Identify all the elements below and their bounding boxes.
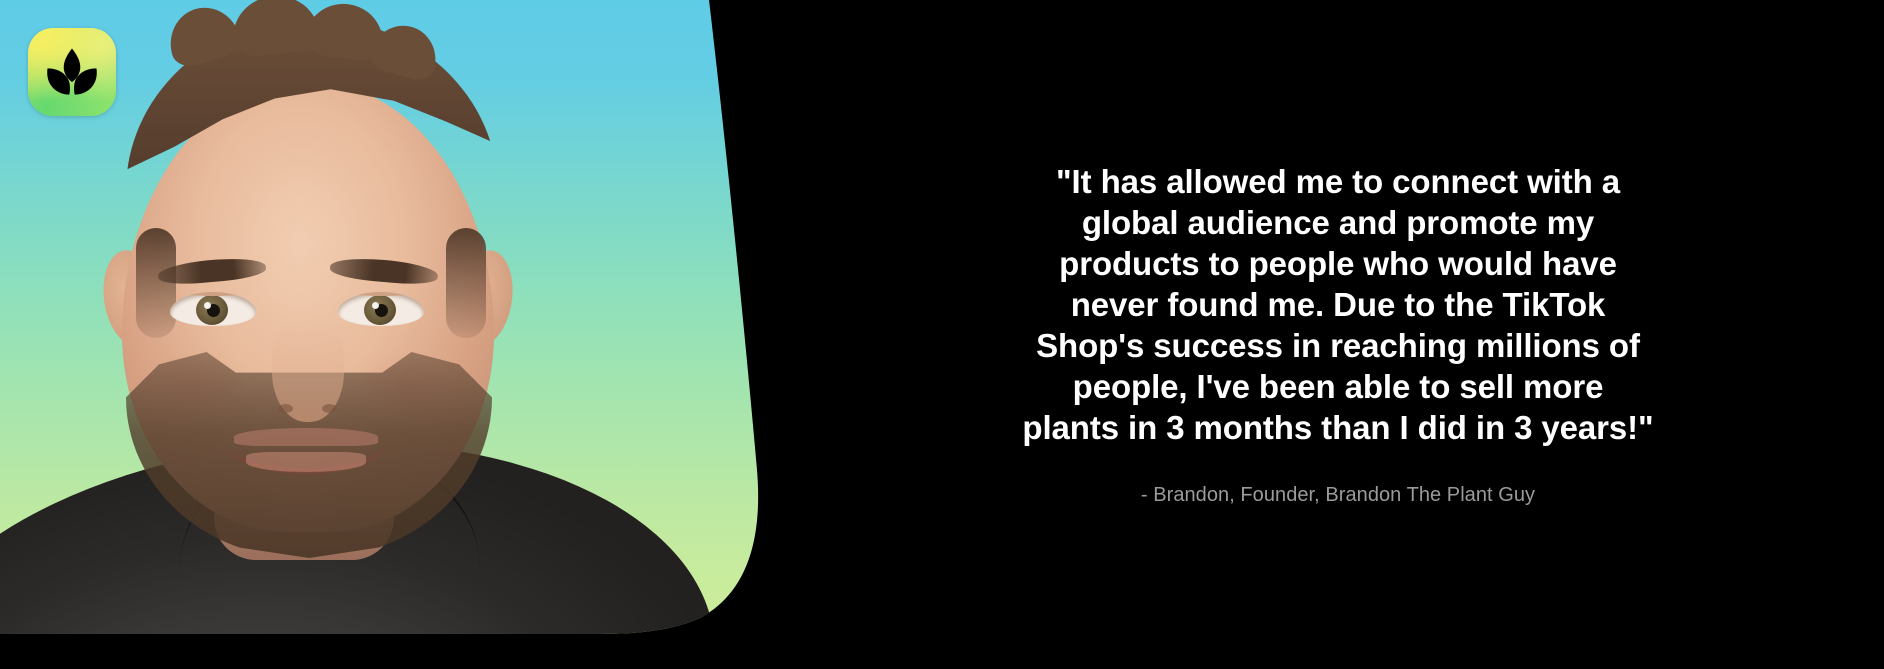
brand-logo-badge[interactable] xyxy=(28,28,116,116)
iris-right xyxy=(364,295,396,325)
nostril-left xyxy=(278,404,293,413)
eye-glint-left xyxy=(204,302,211,309)
iris-left xyxy=(196,295,228,325)
lower-lip xyxy=(246,452,366,472)
testimonial-photo xyxy=(0,0,790,634)
portrait-figure xyxy=(0,0,790,634)
eye-left xyxy=(170,292,256,326)
testimonial-attribution: - Brandon, Founder, Brandon The Plant Gu… xyxy=(1141,482,1535,508)
nose xyxy=(272,318,344,422)
plant-leaves-icon xyxy=(43,43,101,101)
sideburn-right xyxy=(446,228,486,338)
nostril-right xyxy=(322,404,337,413)
testimonial-quote: "It has allowed me to connect with a glo… xyxy=(1022,161,1654,448)
testimonial-card: "It has allowed me to connect with a glo… xyxy=(0,0,1884,669)
eye-right xyxy=(338,292,424,326)
eye-glint-right xyxy=(372,302,379,309)
testimonial-quote-panel: "It has allowed me to connect with a glo… xyxy=(838,0,1838,669)
